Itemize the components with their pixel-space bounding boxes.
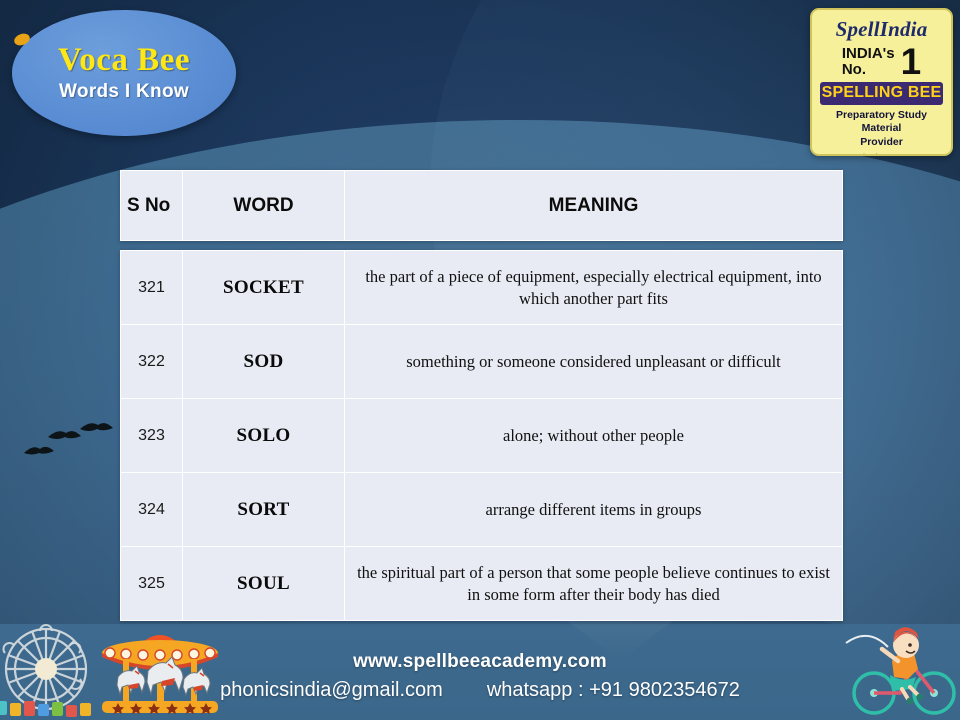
footer-whatsapp[interactable]: whatsapp : +91 9802354672 <box>487 679 740 702</box>
header-cell-sno: S No <box>121 171 183 241</box>
ferris-wheel-decoration <box>0 623 102 720</box>
table-row: 322 SOD something or someone considered … <box>121 325 843 399</box>
words-table-header: S No WORD MEANING <box>120 170 843 241</box>
header-cell-meaning: MEANING <box>345 171 843 241</box>
table-row: 323 SOLO alone; without other people <box>121 399 843 473</box>
cell-word: SOLO <box>183 399 345 473</box>
cell-meaning: alone; without other people <box>345 399 843 473</box>
cell-sno: 324 <box>121 473 183 547</box>
header-cell-word: WORD <box>183 171 345 241</box>
cell-sno: 325 <box>121 547 183 621</box>
badge-provider-text: Preparatory Study Material Provider <box>818 109 945 148</box>
table-row: 321 SOCKET the part of a piece of equipm… <box>121 251 843 325</box>
cell-word: SOCKET <box>183 251 345 325</box>
badge-spelling-bee-band: SPELLING BEE <box>820 82 943 105</box>
footer-contact-line: phonicsindia@gmail.com whatsapp : +91 98… <box>0 679 960 702</box>
cell-word: SOD <box>183 325 345 399</box>
table-rows-container: 321 SOCKET the part of a piece of equipm… <box>121 251 843 621</box>
badge-rank-number: 1 <box>901 44 922 79</box>
cell-sno: 321 <box>121 251 183 325</box>
badge-provider-line1: Preparatory Study Material <box>818 109 945 135</box>
cell-sno: 323 <box>121 399 183 473</box>
carousel-decoration <box>96 623 224 720</box>
badge-rank-line2: No. <box>842 62 895 78</box>
words-table-body: 321 SOCKET the part of a piece of equipm… <box>120 250 843 621</box>
logo-subtitle: Words I Know <box>59 81 189 103</box>
ferris-wheel-icon <box>0 623 102 719</box>
logo-title: Voca Bee <box>58 43 190 78</box>
cell-meaning: the part of a piece of equipment, especi… <box>345 251 843 325</box>
cell-meaning: something or someone considered unpleasa… <box>345 325 843 399</box>
table-row: 325 SOUL the spiritual part of a person … <box>121 547 843 621</box>
badge-provider-line2: Provider <box>818 136 945 149</box>
birds-icon <box>18 415 118 467</box>
cell-meaning: arrange different items in groups <box>345 473 843 547</box>
birds-decoration <box>18 415 118 472</box>
cell-word: SOUL <box>183 547 345 621</box>
table-row: 324 SORT arrange different items in grou… <box>121 473 843 547</box>
cell-meaning: the spiritual part of a person that some… <box>345 547 843 621</box>
slide-canvas: Voca Bee Words I Know SpellIndia INDIA's… <box>0 0 960 720</box>
footer-email[interactable]: phonicsindia@gmail.com <box>220 679 443 702</box>
badge-rank-text: INDIA's No. <box>842 46 895 78</box>
badge-rank-line1: INDIA's <box>842 46 895 62</box>
table-header-row: S No WORD MEANING <box>121 171 843 241</box>
cell-word: SORT <box>183 473 345 547</box>
badge-url: www.phonicsestore.com <box>818 152 945 156</box>
badge-brand-name: SpellIndia <box>818 17 945 42</box>
voca-bee-logo: Voca Bee Words I Know <box>12 10 236 136</box>
cyclist-decoration <box>840 619 958 720</box>
cell-sno: 322 <box>121 325 183 399</box>
spellindia-badge: SpellIndia INDIA's No. 1 SPELLING BEE Pr… <box>810 8 953 156</box>
badge-rank-group: INDIA's No. 1 <box>818 44 945 79</box>
